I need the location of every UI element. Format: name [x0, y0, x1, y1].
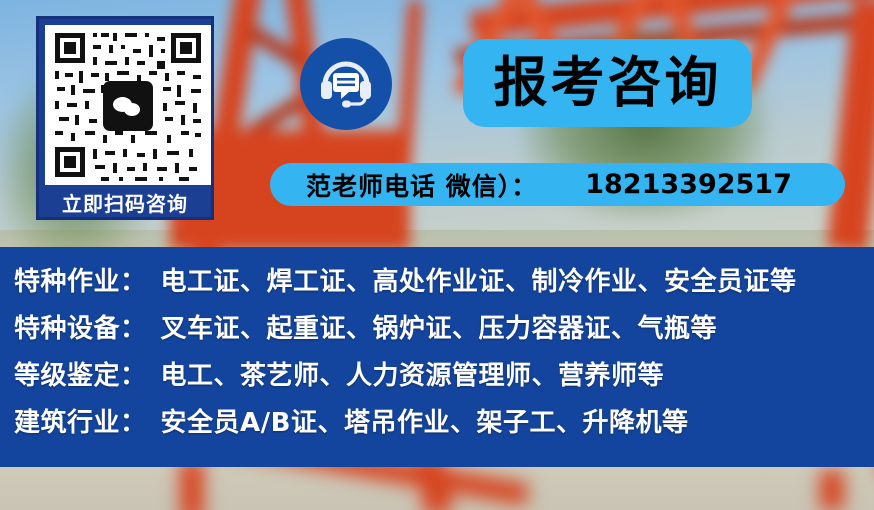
- wechat-icon: [103, 81, 153, 131]
- category-name: 特种设备：: [14, 308, 147, 345]
- title-pill: 报考咨询: [463, 39, 752, 127]
- category-row: 建筑行业： 安全员A/B证、塔吊作业、架子工、升降机等: [0, 402, 874, 449]
- category-items: 电工、茶艺师、人力资源管理师、营养师等: [161, 355, 665, 392]
- category-name: 等级鉴定：: [14, 355, 147, 392]
- category-name: 特种作业：: [14, 261, 147, 298]
- qr-code-image[interactable]: [45, 25, 211, 185]
- crane-leg: [180, 460, 204, 510]
- crane-leg: [820, 470, 844, 510]
- contact-pill[interactable]: 范老师电话 微信）： 18213392517: [270, 163, 845, 206]
- category-name: 建筑行业：: [14, 402, 147, 439]
- headset-support-icon: [300, 38, 392, 130]
- category-items: 叉车证、起重证、锅炉证、压力容器证、气瓶等: [161, 308, 718, 345]
- category-row: 特种作业： 电工证、焊工证、高处作业证、制冷作业、安全员证等: [0, 261, 874, 308]
- certificate-categories-panel: 特种作业： 电工证、焊工证、高处作业证、制冷作业、安全员证等 特种设备： 叉车证…: [0, 247, 874, 467]
- contact-phone-number[interactable]: 18213392517: [585, 169, 792, 200]
- page-title: 报考咨询: [494, 56, 722, 110]
- qr-code-card[interactable]: 立即扫码咨询: [36, 16, 214, 220]
- category-row: 特种设备： 叉车证、起重证、锅炉证、压力容器证、气瓶等: [0, 308, 874, 355]
- category-items: 电工证、焊工证、高处作业证、制冷作业、安全员证等: [161, 261, 797, 298]
- category-items: 安全员A/B证、塔吊作业、架子工、升降机等: [161, 402, 689, 439]
- category-row: 等级鉴定： 电工、茶艺师、人力资源管理师、营养师等: [0, 355, 874, 402]
- qr-caption: 立即扫码咨询: [45, 185, 205, 223]
- contact-label: 范老师电话 微信）：: [306, 167, 537, 203]
- promo-poster: 立即扫码咨询 报考咨询 范老师电话 微信）： 18213392517 特种作业：…: [0, 0, 874, 510]
